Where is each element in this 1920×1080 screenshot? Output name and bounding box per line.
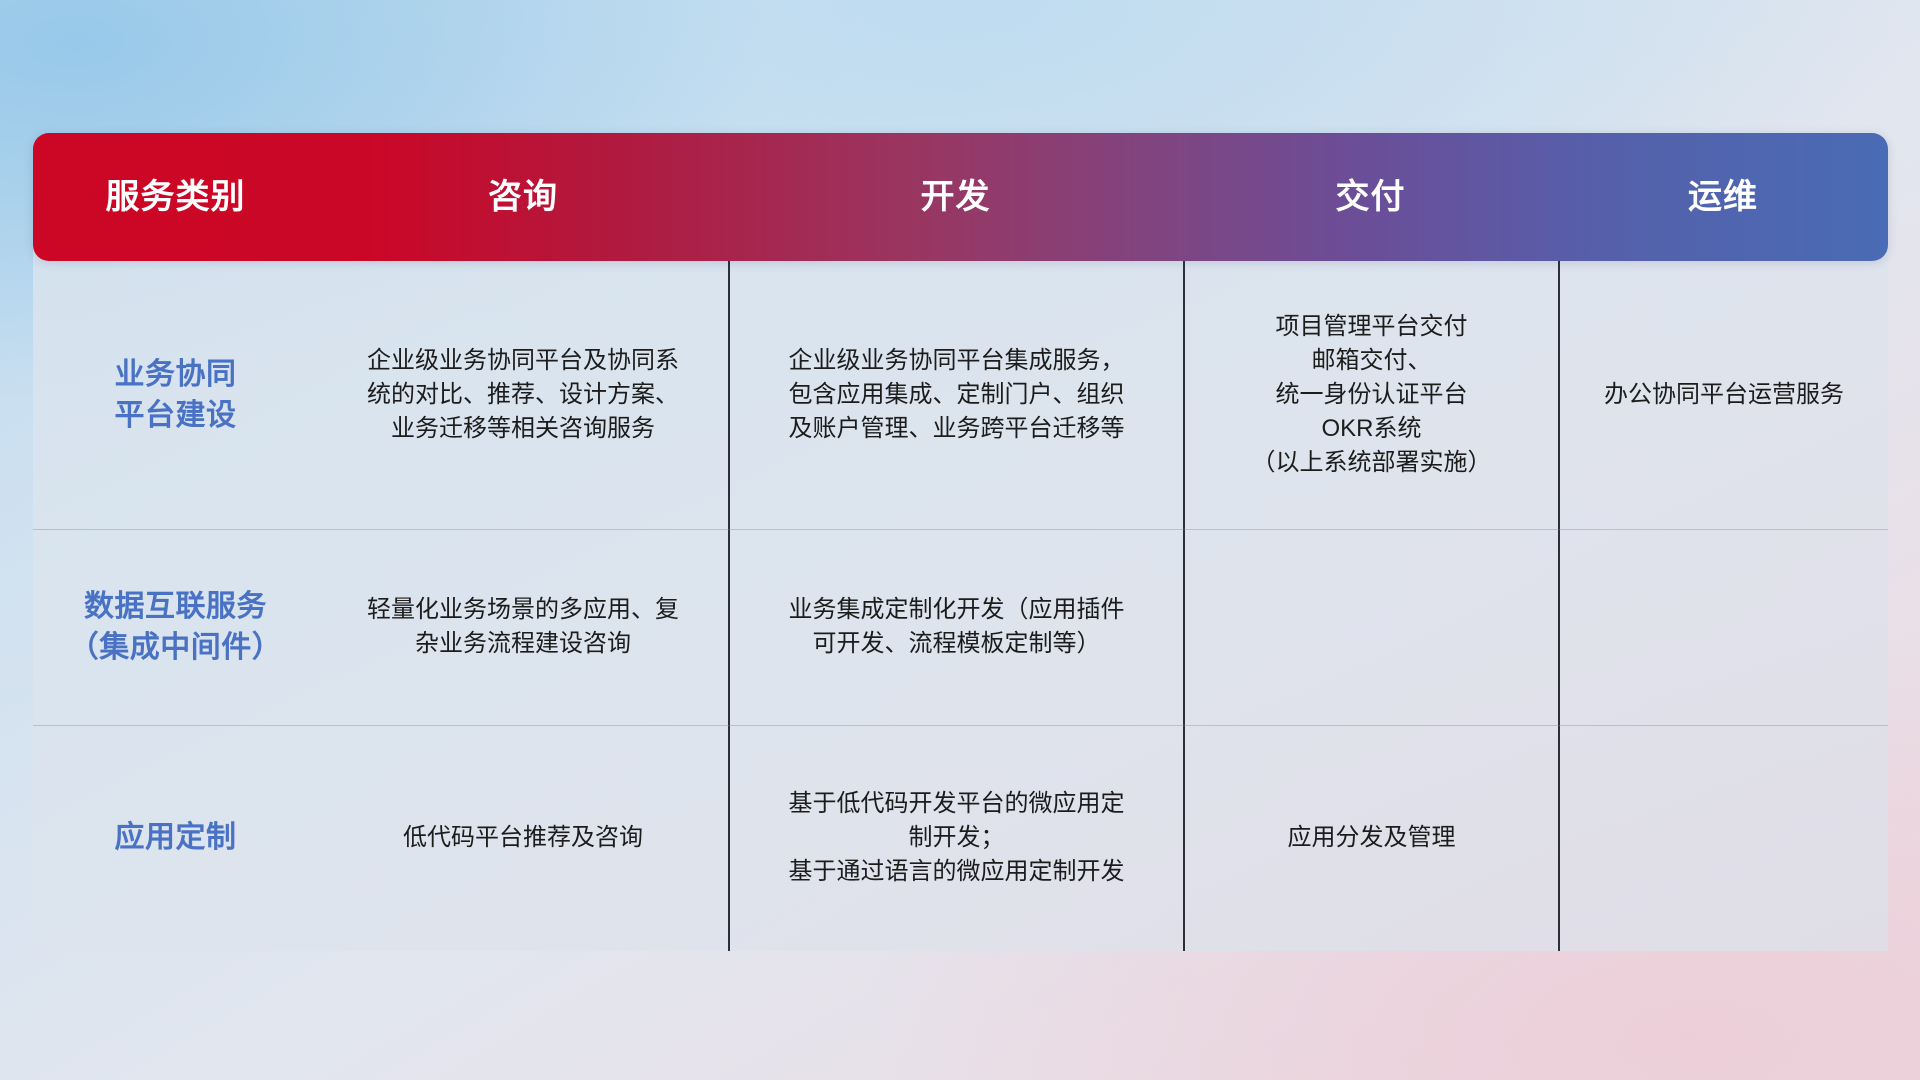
service-matrix-table: 服务类别 咨询 开发 交付 运维 业务协同 平台建设 企业级业务协同平台及协同系… bbox=[33, 133, 1888, 951]
cell-delivery-row2 bbox=[1183, 529, 1558, 725]
cell-consulting-row1: 企业级业务协同平台及协同系 统的对比、推荐、设计方案、 业务迁移等相关咨询服务 bbox=[318, 261, 728, 529]
cell-operations-row2 bbox=[1558, 529, 1888, 725]
cell-operations-row1: 办公协同平台运营服务 bbox=[1558, 261, 1888, 529]
cell-operations-row3 bbox=[1558, 725, 1888, 951]
slide-canvas: 服务类别 咨询 开发 交付 运维 业务协同 平台建设 企业级业务协同平台及协同系… bbox=[0, 0, 1920, 1080]
column-header-category: 服务类别 bbox=[33, 177, 318, 218]
cell-development-row2: 业务集成定制化开发（应用插件 可开发、流程模板定制等） bbox=[728, 529, 1183, 725]
cell-development-row3: 基于低代码开发平台的微应用定 制开发； 基于通过语言的微应用定制开发 bbox=[728, 725, 1183, 951]
row-label-business-collaboration: 业务协同 平台建设 bbox=[33, 261, 318, 529]
column-header-delivery: 交付 bbox=[1183, 177, 1558, 218]
cell-delivery-row3: 应用分发及管理 bbox=[1183, 725, 1558, 951]
column-header-consulting: 咨询 bbox=[318, 177, 728, 218]
table-row: 数据互联服务 （集成中间件） 轻量化业务场景的多应用、复 杂业务流程建设咨询 业… bbox=[33, 529, 1888, 725]
cell-consulting-row2: 轻量化业务场景的多应用、复 杂业务流程建设咨询 bbox=[318, 529, 728, 725]
table-header-row: 服务类别 咨询 开发 交付 运维 bbox=[33, 133, 1888, 261]
row-label-app-customization: 应用定制 bbox=[33, 725, 318, 951]
cell-consulting-row3: 低代码平台推荐及咨询 bbox=[318, 725, 728, 951]
column-header-development: 开发 bbox=[728, 177, 1183, 218]
column-header-operations: 运维 bbox=[1558, 177, 1888, 218]
row-label-data-interconnect: 数据互联服务 （集成中间件） bbox=[33, 529, 318, 725]
table-row: 业务协同 平台建设 企业级业务协同平台及协同系 统的对比、推荐、设计方案、 业务… bbox=[33, 261, 1888, 529]
cell-development-row1: 企业级业务协同平台集成服务， 包含应用集成、定制门户、组织 及账户管理、业务跨平… bbox=[728, 261, 1183, 529]
table-row: 应用定制 低代码平台推荐及咨询 基于低代码开发平台的微应用定 制开发； 基于通过… bbox=[33, 725, 1888, 951]
table-body: 业务协同 平台建设 企业级业务协同平台及协同系 统的对比、推荐、设计方案、 业务… bbox=[33, 261, 1888, 951]
cell-delivery-row1: 项目管理平台交付 邮箱交付、 统一身份认证平台 OKR系统 （以上系统部署实施） bbox=[1183, 261, 1558, 529]
